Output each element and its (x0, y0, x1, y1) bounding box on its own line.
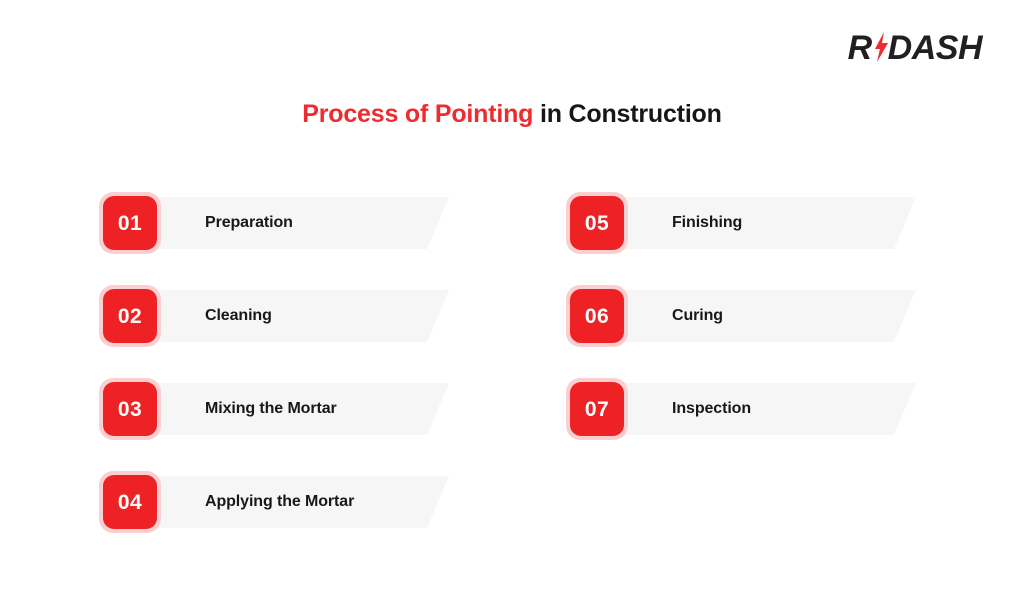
step-bar (588, 197, 916, 249)
steps-column-right: 05 Finishing 06 Curing 07 Inspection (566, 192, 916, 471)
step-number-badge-inner: 02 (103, 289, 157, 343)
step-item[interactable]: 03 Mixing the Mortar (99, 378, 449, 440)
step-bar (121, 290, 449, 342)
step-number: 06 (585, 306, 609, 327)
step-bar (588, 383, 916, 435)
steps-column-left: 01 Preparation 02 Cleaning 03 Mixing the… (99, 192, 449, 564)
step-number-badge: 02 (99, 285, 161, 347)
step-item[interactable]: 04 Applying the Mortar (99, 471, 449, 533)
step-number-badge-inner: 06 (570, 289, 624, 343)
step-number-badge: 05 (566, 192, 628, 254)
step-number-badge: 03 (99, 378, 161, 440)
brand-logo: R DASH (848, 28, 982, 68)
step-item[interactable]: 06 Curing (566, 285, 916, 347)
step-number-badge: 06 (566, 285, 628, 347)
step-item[interactable]: 02 Cleaning (99, 285, 449, 347)
step-label: Cleaning (205, 285, 272, 347)
step-number-badge: 01 (99, 192, 161, 254)
brand-logo-suffix: DASH (888, 31, 982, 65)
step-number-badge-inner: 03 (103, 382, 157, 436)
brand-logo-prefix: R (848, 31, 872, 65)
step-number: 04 (118, 492, 142, 513)
step-number: 07 (585, 399, 609, 420)
step-number: 01 (118, 213, 142, 234)
step-label: Finishing (672, 192, 742, 254)
step-number: 05 (585, 213, 609, 234)
page-title-rest: in Construction (533, 100, 721, 128)
step-label: Preparation (205, 192, 293, 254)
step-label: Mixing the Mortar (205, 378, 337, 440)
step-item[interactable]: 05 Finishing (566, 192, 916, 254)
brand-logo-text: R DASH (848, 31, 982, 65)
step-item[interactable]: 07 Inspection (566, 378, 916, 440)
step-number: 02 (118, 306, 142, 327)
step-number-badge-inner: 04 (103, 475, 157, 529)
step-bar (588, 290, 916, 342)
step-number: 03 (118, 399, 142, 420)
step-label: Applying the Mortar (205, 471, 354, 533)
lightning-bolt-icon (873, 32, 889, 62)
page-title-accent: Process of Pointing (302, 100, 533, 128)
step-item[interactable]: 01 Preparation (99, 192, 449, 254)
page-title: Process of Pointing in Construction (0, 99, 1024, 129)
step-number-badge: 07 (566, 378, 628, 440)
step-number-badge: 04 (99, 471, 161, 533)
step-label: Curing (672, 285, 723, 347)
step-number-badge-inner: 01 (103, 196, 157, 250)
step-number-badge-inner: 07 (570, 382, 624, 436)
step-number-badge-inner: 05 (570, 196, 624, 250)
step-label: Inspection (672, 378, 751, 440)
